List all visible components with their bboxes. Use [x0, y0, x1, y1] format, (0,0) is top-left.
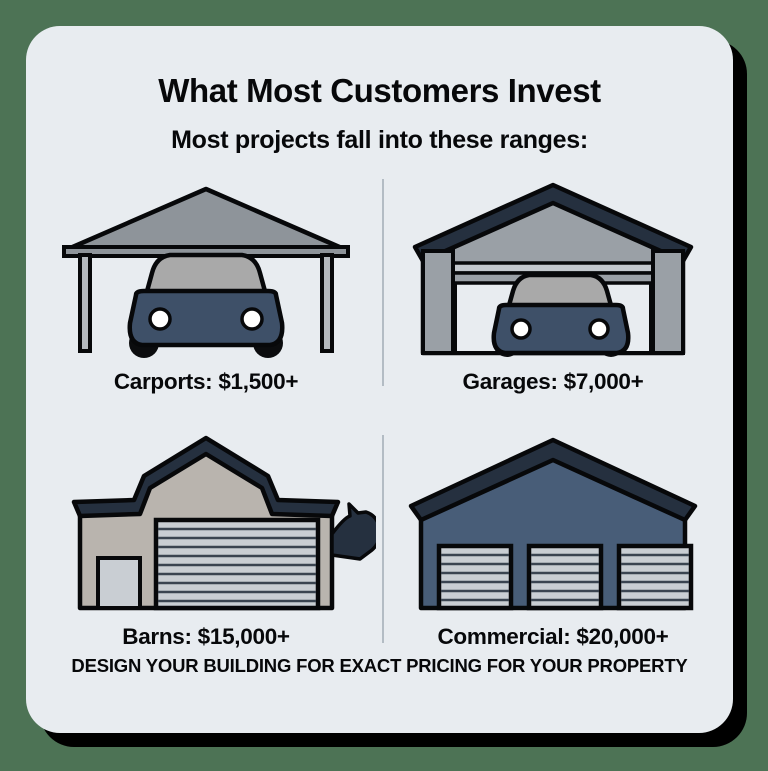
page-title: What Most Customers Invest	[26, 72, 733, 110]
pricing-item-carports[interactable]: Carports: $1,500+	[36, 171, 376, 421]
pricing-label-barns: Barns: $15,000+	[36, 624, 376, 650]
roll-up-doors	[439, 546, 691, 608]
pricing-item-commercial[interactable]: Commercial: $20,000+	[383, 426, 723, 676]
pricing-label-carports: Carports: $1,500+	[36, 369, 376, 395]
horse-head-icon	[332, 504, 376, 559]
pricing-label-garages: Garages: $7,000+	[383, 369, 723, 395]
car-graphic	[493, 275, 628, 357]
car-graphic	[129, 255, 283, 358]
barn-icon	[36, 426, 376, 626]
commercial-icon	[383, 426, 723, 626]
pricing-item-garages[interactable]: Garages: $7,000+	[383, 171, 723, 421]
footer-cta: DESIGN YOUR BUILDING FOR EXACT PRICING F…	[26, 655, 733, 677]
page-subtitle: Most projects fall into these ranges:	[26, 126, 733, 155]
pricing-item-barns[interactable]: Barns: $15,000+	[36, 426, 376, 676]
pricing-label-commercial: Commercial: $20,000+	[383, 624, 723, 650]
carport-icon	[36, 171, 376, 371]
garage-icon	[383, 171, 723, 371]
pricing-card: What Most Customers Invest Most projects…	[26, 26, 733, 733]
infographic-stage: What Most Customers Invest Most projects…	[0, 0, 768, 771]
